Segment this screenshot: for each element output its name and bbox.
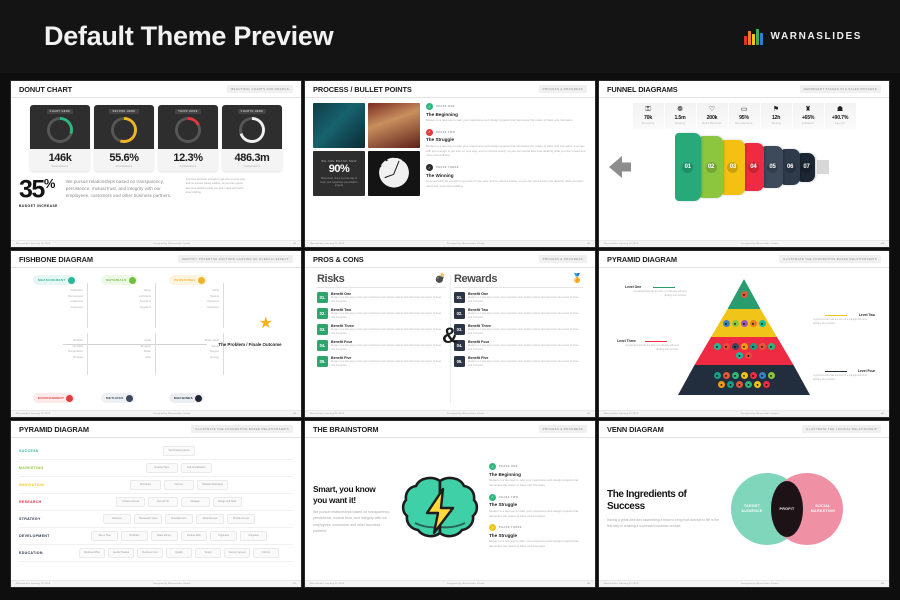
pyramid-cell[interactable]: Wellness [103, 514, 131, 524]
bullet-badge-icon: ✓ [426, 129, 433, 136]
funnel-stat: ⚑ 12h Testing [761, 103, 792, 129]
funnel-stat-value: +90.7% [825, 115, 856, 121]
slide-body: ● ●●●●● ●●●●●●● ●● ●●●●●●● ●●●●●● Level … [599, 268, 889, 410]
pros-cons-title: Benefit Two [331, 308, 446, 312]
pros-cons-title: Benefit One [468, 292, 583, 296]
pyramid-icon: ● [732, 372, 739, 379]
fishbone-causes: ShiftsTrainingOperatorsOperators [163, 289, 219, 311]
venn-layout: The Ingredients of Success Having a grea… [607, 443, 881, 575]
venn-left-label: TARGET AUDIENCE [735, 504, 769, 514]
bullet-header: ✓ PHASE ONE [426, 103, 587, 110]
fishbone-cause: Operators [163, 300, 219, 303]
heart-icon: ♡ [697, 106, 728, 113]
fishbone-branch [87, 333, 88, 375]
slide-process-bullet-points[interactable]: PROCESS / BULLET POINTS PROCESS & PROGRE… [305, 81, 595, 247]
donut-card[interactable]: THIRD HERE ☠ 12.3% Customers [158, 105, 218, 171]
pros-cons-title: Benefit Two [468, 308, 583, 312]
donut-bottom: 146k Customers [30, 149, 90, 171]
footer-page: 07 [293, 583, 296, 585]
pyramid-level-4[interactable]: ●●●●●●● ●●●●●● [678, 365, 810, 395]
funnel-segment[interactable]: 03 [721, 140, 744, 195]
pyramid-level-caption: A pyramid chart has the form of a triang… [617, 344, 679, 352]
footer-left: Warnaslides January 31 2019 [310, 243, 344, 245]
funnel-segment[interactable]: 04 [743, 143, 765, 192]
pyramid-icon: ● [750, 372, 757, 379]
fishbone-outcome: The Problem / Finale Outcome [211, 342, 289, 349]
funnel-end-cap [817, 160, 829, 174]
pyramid-row-cells: WellnessTherapeutic ValueEntertainmentAt… [65, 514, 293, 524]
slide-tag: IDENTIFY POTENTIAL FACTORS CAUSING AN OV… [178, 255, 293, 263]
pros-cons-title: Benefit Five [468, 356, 583, 360]
slide-title: THE BRAINSTORM [313, 425, 378, 434]
pyramid-cell[interactable]: Self-Transcendence [163, 446, 196, 456]
donut-chip: SECOND HERE [109, 109, 138, 114]
flag-icon: ⚑ [761, 106, 792, 113]
slide-funnel-diagrams[interactable]: FUNNEL DIAGRAMS REPRESENT STAGES IN A SA… [599, 81, 889, 247]
slide-footer: Warnaslides January 31 2019 Designed by … [11, 580, 301, 587]
pros-cons-layout: Risks 💣 01. Benefit One Modern is a fast… [313, 273, 587, 405]
footer-center: Designed by Warnaslides Studio [447, 413, 485, 415]
donut-top: SECOND HERE ⬛ [94, 105, 154, 149]
donut-chip: CHARTS HERE [238, 109, 267, 114]
fishbone-node-icon [68, 277, 75, 284]
footer-left: Warnaslides January 31 2019 [604, 413, 638, 415]
pros-cons-head: Rewards 🏅 [454, 273, 583, 288]
footer-center: Designed by Warnaslides Studio [741, 243, 779, 245]
slide-the-brainstorm[interactable]: THE BRAINSTORM PROCESS & PROGRESS Smart,… [305, 421, 595, 587]
pyramid-cell[interactable]: Record Hit [148, 497, 177, 507]
slide-body: WE ARE BRAND NEW 90% Work smart, find a … [305, 98, 595, 240]
fishbone-node-materials[interactable]: MATERIALS [101, 275, 138, 285]
brainstorm-paragraph: We pursue relationships based on transpa… [313, 509, 391, 533]
pyramid-cell[interactable]: Saves Time [91, 531, 118, 541]
pyramid-icon: ● [741, 372, 748, 379]
bullet-item[interactable]: ✓ PHASE TWO The Struggle Modern is a fas… [426, 129, 587, 158]
logo-bars-icon [744, 28, 763, 45]
fishbone-causes: WeatherHumidityTemperatureTempera [27, 339, 83, 361]
footer-center: Designed by Warnaslides Studio [153, 413, 191, 415]
venn-copy: The Ingredients of Success Having a grea… [607, 489, 719, 530]
donut-ring: ⚿ [239, 117, 265, 143]
fishbone-node-personnel[interactable]: PERSONNEL [169, 275, 207, 285]
bullet-text: Modern is a fast way to start your respo… [426, 118, 587, 123]
pyramid-icon: ● [768, 343, 775, 350]
slide-tag: PROCESS & PROGRESS [539, 85, 587, 93]
pros-cons-title: Benefit Five [331, 356, 446, 360]
pyramid-row-cells: Achieve AccessRecord HitStrategicDesign … [65, 497, 293, 507]
donut-top: CHARTS HERE ⚿ [222, 105, 282, 149]
fishbone-cause: Weather [27, 339, 83, 342]
slide-tag: ILLUSTRATE THE FOUNDATION-BASED RELATION… [779, 255, 881, 263]
fishbone-node-machines[interactable]: MACHINES [169, 393, 204, 403]
pyramid-icon: ● [763, 381, 770, 388]
footer-center: Designed by Warnaslides Studio [447, 583, 485, 585]
pyramid-level-caption: A pyramid chart has the form of a triang… [813, 318, 875, 326]
footer-page: 04 [293, 413, 296, 415]
pyramid-cell[interactable]: Reduces Effort [79, 548, 105, 558]
funnel-stats-row: ⚿ 70k Discovery ❁ 1.5m Scoping ♡ 200k Bu… [607, 103, 881, 129]
slide-footer: Warnaslides January 31 2019 Designed by … [11, 410, 301, 417]
slide-footer: Warnaslides January 31 2019 Designed by … [599, 240, 889, 247]
pyramid-level-1[interactable]: ● [678, 279, 810, 309]
slide-tag: ILLUSTRATE THE LOGICAL RELATIONSHIP [802, 425, 881, 433]
pros-cons-row[interactable]: 03. Benefit Three Modern is a fast way t… [454, 324, 583, 337]
slide-footer: Warnaslides January 31 2019 Designed by … [599, 580, 889, 587]
pyramid-cell[interactable]: Variety [195, 548, 221, 558]
pros-cons-number: 02. [454, 308, 465, 319]
pros-cons-number: 01. [317, 292, 328, 303]
slide-header: PROS & CONS PROCESS & PROGRESS [305, 251, 595, 268]
pros-cons-text: Modern is a fast way to start your respo… [331, 360, 446, 368]
logo-bar [752, 34, 755, 45]
donut-bottom: 55.6% Customers [94, 149, 154, 171]
funnel-stat: ⚿ 70k Discovery [633, 103, 664, 129]
pyramid-cell[interactable]: Attractiveness [196, 514, 224, 524]
slide-pyramid-diagram-rows[interactable]: PYRAMID DIAGRAM ILLUSTRATE THE FOUNDATIO… [11, 421, 301, 587]
footer-left: Warnaslides January 31 2019 [310, 583, 344, 585]
footer-left: Warnaslides January 31 2019 [310, 413, 344, 415]
pyramid-cell[interactable]: Creative Hope [146, 463, 178, 473]
process-bullet-list: ✓ PHASE ONE The Beginning Modern is a fa… [426, 103, 587, 235]
medal-icon: 🏅 [572, 273, 583, 284]
bullet-text: Modern is a fast way to start your respo… [489, 478, 587, 488]
pros-cons-number: 05. [454, 356, 465, 367]
fishbone-cause: Stepper [163, 350, 219, 353]
slide-tag: REPRESENT STAGES IN A SALES PROCESS [800, 85, 881, 93]
fishbone-branch [223, 333, 224, 375]
funnel-segment-number: 06 [785, 162, 796, 173]
pros-cons-row[interactable]: 01. Benefit One Modern is a fast way to … [454, 292, 583, 305]
brainstorm-layout: Smart, you know you want it! We pursue r… [313, 443, 587, 575]
clock-photo [368, 151, 420, 196]
fishbone-branch [223, 283, 224, 328]
pyramid-level-caption: A pyramid chart has the form of a triang… [813, 374, 875, 382]
fishbone-cause: Engager [95, 345, 151, 348]
fishbone-cause: Lubricants [95, 295, 151, 298]
logo-bar [744, 36, 747, 45]
slide-body: The Ingredients of Success Having a grea… [599, 438, 889, 580]
donut-summary: 35% BUDGET INCREASE We pursue relationsh… [19, 178, 293, 208]
process-image-grid: WE ARE BRAND NEW 90% Work smart, find a … [313, 103, 420, 235]
venn-heading: The Ingredients of Success [607, 489, 719, 514]
donut-card-row: CHART HERE ⚿ 146k Customers SECOND HERE … [19, 105, 293, 171]
pyramid-cell[interactable]: Entertainment [165, 514, 193, 524]
pros-cons-text: Modern is a fast way to start your respo… [331, 312, 446, 320]
pyramid-cell[interactable]: Self-Actualization [181, 463, 213, 473]
pros-cons-text: Modern is a fast way to start your respo… [468, 296, 583, 304]
funnel-segment[interactable]: 06 [781, 149, 800, 185]
funnel-segment[interactable]: 02 [699, 136, 724, 198]
pyramid-row-cells: Self-Transcendence [65, 446, 293, 456]
pyramid-icon: ● [727, 381, 734, 388]
pyramid-cell[interactable]: Motivation [130, 480, 160, 490]
pyramid-cell[interactable]: Achieve Access [116, 497, 145, 507]
pyramid-cell[interactable]: Quality [166, 548, 192, 558]
footer-page: 02 [587, 243, 590, 245]
blocks-photo [368, 103, 420, 148]
fishbone-cause: Alloys [95, 289, 151, 292]
bullet-header: ✓ PHASE THREE [426, 164, 587, 171]
pyramid-shape: ● ●●●●● ●●●●●●● ●● ●●●●●●● ●●●●●● [678, 277, 810, 395]
bullet-badge-icon: ✓ [489, 524, 496, 531]
stat-value: 90% [329, 163, 350, 175]
pyramid-cell[interactable]: Sensory Appeal [224, 548, 250, 558]
fishbone-branch [87, 283, 88, 328]
pyramid-icon: ● [750, 343, 757, 350]
funnel-segments: 01 02 03 04 05 06 07 [675, 133, 816, 201]
funnel-segment[interactable]: 01 [675, 133, 701, 201]
fishbone-cause: Angle [95, 339, 151, 342]
slide-title: PYRAMID DIAGRAM [19, 425, 89, 434]
pyramid-icon: ● [759, 372, 766, 379]
slide-title: PROCESS / BULLET POINTS [313, 85, 412, 94]
ampersand: & [442, 323, 458, 349]
slide-title: PROS & CONS [313, 255, 364, 264]
slide-pyramid-diagram[interactable]: PYRAMID DIAGRAM ILLUSTRATE THE FOUNDATIO… [599, 251, 889, 417]
pros-cons-right: Rewards 🏅 01. Benefit One Modern is a fa… [450, 273, 587, 405]
footer-page: 05 [587, 413, 590, 415]
footer-page: 01 [293, 243, 296, 245]
slide-pros-and-cons[interactable]: PROS & CONS PROCESS & PROGRESS Risks 💣 0… [305, 251, 595, 417]
camera-icon: ☗ [825, 106, 856, 113]
footer-center: Designed by Warnaslides Studio [741, 583, 779, 585]
donut-ring: ⚿ [47, 117, 73, 143]
bullet-item[interactable]: ✓ PHASE THREE The Winning It comes with … [426, 164, 587, 189]
big-stat: 35% BUDGET INCREASE [19, 178, 58, 208]
pyramid-cell[interactable]: Strategic [181, 497, 210, 507]
donut-top: CHART HERE ⚿ [30, 105, 90, 149]
fishbone-cause: Calibration [27, 289, 83, 292]
brainstorm-bullets: ✓ PHASE ONE The Beginning Modern is a fa… [489, 463, 587, 555]
pros-cons-row[interactable]: 02. Benefit Two Modern is a fast way to … [454, 308, 583, 321]
donut-ring: ☠ [175, 117, 201, 143]
pyramid-level-2[interactable]: ●●●●● [678, 309, 810, 337]
pyramid-row-cells: Reduces EffortAvoids HasslesReduces Cost… [65, 548, 293, 558]
slide-title: FUNNEL DIAGRAMS [607, 85, 678, 94]
bullet-title: The Struggle [489, 533, 587, 538]
slide-title: VENN DIAGRAM [607, 425, 664, 434]
pros-cons-text: Modern is a fast way to start your respo… [468, 312, 583, 320]
fishbone-node-icon [129, 277, 136, 284]
fishbone-node-icon [66, 395, 73, 402]
donut-card[interactable]: SECOND HERE ⬛ 55.6% Customers [94, 105, 154, 171]
bullet-title: The Struggle [489, 502, 587, 507]
funnel-segment-number: 07 [801, 162, 812, 173]
logo-bar [756, 29, 759, 45]
pyramid-row: INNOVATION MotivationNurturerAffiliation… [19, 477, 293, 494]
funnel-segment[interactable]: 07 [798, 153, 816, 182]
fishbone-cause: Humidity [27, 345, 83, 348]
donut-sublabel: Customers [52, 164, 69, 168]
fishbone-cause: Tempera [27, 356, 83, 359]
donut-sublabel: Customers [244, 164, 261, 168]
funnel-stat-label: Scoping [665, 122, 696, 125]
slide-donut-chart[interactable]: DONUT CHART BEAUTIFUL CHARTS AND GRAPHS … [11, 81, 301, 247]
bullet-title: The Struggle [426, 137, 587, 142]
funnel-segment-number: 02 [706, 162, 717, 173]
slide-header: FISHBONE DIAGRAM IDENTIFY POTENTIAL FACT… [11, 251, 301, 268]
pyramid: ● ●●●●● ●●●●●●● ●● ●●●●●●● ●●●●●● Level … [607, 273, 881, 405]
pyramid-cell[interactable]: Therapeutic Value [134, 514, 162, 524]
bomb-icon: 💣 [435, 273, 446, 284]
fishbone-cause: Microscopes [27, 295, 83, 298]
pyramid-cell[interactable]: Informs [253, 548, 279, 558]
fishbone-node-measurement[interactable]: MEASUREMENT [33, 275, 77, 285]
pyramid-cell[interactable]: Simplifies [121, 531, 148, 541]
slide-body: SUCCESS Self-Transcendence MARKETING Cre… [11, 438, 301, 580]
footer-center: Designed by Warnaslides Studio [447, 243, 485, 245]
pyramid-row-label: SUCCESS [19, 449, 61, 453]
bullet-text: Modern is a fast way to start your respo… [489, 509, 587, 519]
pyramid-icons: ●●●●●●● [714, 343, 775, 350]
bullet-item[interactable]: ✓ PHASE TWO The Struggle Modern is a fas… [489, 494, 587, 519]
pyramid-icon: ● [745, 381, 752, 388]
pyramid-cell[interactable]: Affiliation Belonging [197, 480, 227, 490]
funnel-segment-number: 04 [748, 162, 759, 173]
fishbone-node-label: METHODS [106, 396, 124, 400]
fishbone: MEASUREMENT CalibrationMicroscopesInspec… [19, 273, 293, 405]
funnel-stat-label: Build Business [697, 122, 728, 125]
footer-page: 03 [881, 243, 884, 245]
slide-tag: BEAUTIFUL CHARTS AND GRAPHS [227, 85, 293, 93]
pros-cons-number: 03. [317, 324, 328, 335]
fishbone-cause: Inspectors [27, 300, 83, 303]
donut-value: 146k [49, 152, 72, 164]
footer-center: Designed by Warnaslides Studio [741, 413, 779, 415]
bullet-title: The Beginning [426, 112, 587, 117]
funnel-stat: ♜ +65% Validation [793, 103, 824, 129]
fishbone-causes: CalibrationMicroscopesInspectorsInspecto… [27, 289, 83, 311]
bullet-badge-icon: ✓ [426, 164, 433, 171]
pros-cons-title: Benefit Three [468, 324, 583, 328]
pros-cons-title: Benefit One [331, 292, 446, 296]
pyramid-cell[interactable]: Design and Work [213, 497, 242, 507]
slide-footer: Warnaslides January 31 2019 Designed by … [305, 580, 595, 587]
pyramid-cell[interactable]: Organizes [210, 531, 237, 541]
donut-card[interactable]: CHART HERE ⚿ 146k Customers [30, 105, 90, 171]
fishbone-cause: Training [163, 295, 219, 298]
pyramid-row-cells: Creative HopeSelf-Actualization [65, 463, 293, 473]
pyramid-icon: ● [723, 372, 730, 379]
funnel-stat: ♡ 200k Build Business [697, 103, 728, 129]
logo-text: WARNASLIDES [771, 31, 863, 42]
donut-bottom: 12.3% Customers [158, 149, 218, 171]
pyramid-row: MARKETING Creative HopeSelf-Actualizatio… [19, 460, 293, 477]
slide-footer: Warnaslides January 31 2019 Designed by … [11, 240, 301, 247]
pros-cons-row[interactable]: 05. Benefit Five Modern is a fast way to… [317, 356, 446, 369]
pros-cons-number: 01. [454, 292, 465, 303]
vr-icon: ▭ [729, 106, 760, 113]
pyramid-row-label: STRATEGY [19, 517, 61, 521]
pyramid-icon: ● [714, 372, 721, 379]
venn-chart: TARGET AUDIENCE PROFIT SOCIAL MARKETING [725, 466, 881, 552]
funnel-segment-number: 03 [727, 162, 738, 173]
slide-fishbone-diagram[interactable]: FISHBONE DIAGRAM IDENTIFY POTENTIAL FACT… [11, 251, 301, 417]
bullet-header: ✓ PHASE TWO [426, 129, 587, 136]
donut-chip: THIRD HERE [175, 109, 201, 114]
pros-cons-row[interactable]: 04. Benefit Four Modern is a fast way to… [317, 340, 446, 353]
fishbone-cause: Disk [95, 356, 151, 359]
fishbone-cause: Shifts [163, 289, 219, 292]
slide-title: DONUT CHART [19, 85, 72, 94]
donut-card[interactable]: CHARTS HERE ⚿ 486.3m Customers [222, 105, 282, 171]
pyramid-level-3[interactable]: ●●●●●●● ●● [678, 337, 810, 365]
funnel-stat: ❁ 1.5m Scoping [665, 103, 696, 129]
slide-tag: PROCESS & PROGRESS [539, 255, 587, 263]
bullet-header: ✓ PHASE ONE [489, 463, 587, 470]
pyramid-cell[interactable]: Reduces Cost [137, 548, 163, 558]
fishbone-node-methods[interactable]: METHODS [101, 393, 135, 403]
funnel-stat-value: 200k [697, 115, 728, 121]
pyramid-cell[interactable]: Reduce Risk [181, 531, 208, 541]
bullet-phase: PHASE TWO [436, 131, 455, 134]
bullet-item[interactable]: ✓ PHASE THREE The Struggle Modern is a f… [489, 524, 587, 549]
donut-bottom: 486.3m Customers [222, 149, 282, 171]
fishbone-causes: AngleEngagerBrakeDisk [95, 339, 151, 361]
logo-bar [760, 33, 763, 45]
slide-header: FUNNEL DIAGRAMS REPRESENT STAGES IN A SA… [599, 81, 889, 98]
pyramid-cell[interactable]: Integrates [240, 531, 267, 541]
pyramid-icon: ● [768, 372, 775, 379]
funnel-segment[interactable]: 05 [762, 146, 782, 188]
pyramid-icon: ● [736, 381, 743, 388]
pros-cons-row[interactable]: 04. Benefit Four Modern is a fast way to… [454, 340, 583, 353]
fishbone-node-icon [198, 277, 205, 284]
slide-header: PYRAMID DIAGRAM ILLUSTRATE THE FOUNDATIO… [599, 251, 889, 268]
pyramid-leader-line [825, 315, 847, 316]
slide-title: PYRAMID DIAGRAM [607, 255, 677, 264]
bullet-item[interactable]: ✓ PHASE ONE The Beginning Modern is a fa… [426, 103, 587, 123]
pyramid-cell[interactable]: Provide Access [227, 514, 255, 524]
pyramid-cell[interactable]: Make Money [151, 531, 178, 541]
footer-left: Warnaslides January 31 2019 [16, 583, 50, 585]
pyramid-cell[interactable]: Avoids Hassles [108, 548, 134, 558]
pyramid-icon: ● [754, 381, 761, 388]
pros-cons-row[interactable]: 01. Benefit One Modern is a fast way to … [317, 292, 446, 305]
pros-cons-row[interactable]: 02. Benefit Two Modern is a fast way to … [317, 308, 446, 321]
pyramid-leader-line [825, 371, 847, 372]
pyramid-icon: ● [745, 352, 752, 359]
fishbone-cause: Suppliers [95, 306, 151, 309]
pyramid-level-caption: A pyramid chart has the form of a triang… [625, 290, 687, 298]
globe-icon: ❁ [665, 106, 696, 113]
funnel-segment-number: 01 [682, 162, 693, 173]
bullet-text: Modern is a fast way to start your respo… [426, 144, 587, 158]
slide-body: MEASUREMENT CalibrationMicroscopesInspec… [11, 268, 301, 410]
pros-cons-row[interactable]: 03. Benefit Three Modern is a fast way t… [317, 324, 446, 337]
pros-cons-number: 04. [317, 340, 328, 351]
slide-venn-diagram[interactable]: VENN DIAGRAM ILLUSTRATE THE LOGICAL RELA… [599, 421, 889, 587]
fishbone-branch [155, 333, 156, 375]
fishbone-cause: Operators [163, 306, 219, 309]
fishbone-node-environment[interactable]: ENVIRONMENT [33, 393, 75, 403]
fishbone-node-label: MATERIALS [106, 278, 127, 282]
fishbone-node-icon [126, 395, 133, 402]
pyramid-icon: ● [741, 320, 748, 327]
bullet-item[interactable]: ✓ PHASE ONE The Beginning Modern is a fa… [489, 463, 587, 488]
pyramid-icon: ● [723, 343, 730, 350]
pyramid-level-label: Level Four [858, 369, 875, 373]
pros-cons-text: Modern is a fast way to start your respo… [468, 344, 583, 352]
pyramid-icon: ● [714, 343, 721, 350]
app-header: Default Theme Preview WARNASLIDES [0, 0, 900, 73]
pyramid-cell[interactable]: Nurturer [164, 480, 194, 490]
megaphone-icon: ♜ [793, 106, 824, 113]
footer-center: Designed by Warnaslides Studio [153, 583, 191, 585]
pros-cons-head: Risks 💣 [317, 273, 446, 288]
funnel-stat-label: Testing [761, 122, 792, 125]
pros-cons-row[interactable]: 05. Benefit Five Modern is a fast way to… [454, 356, 583, 369]
